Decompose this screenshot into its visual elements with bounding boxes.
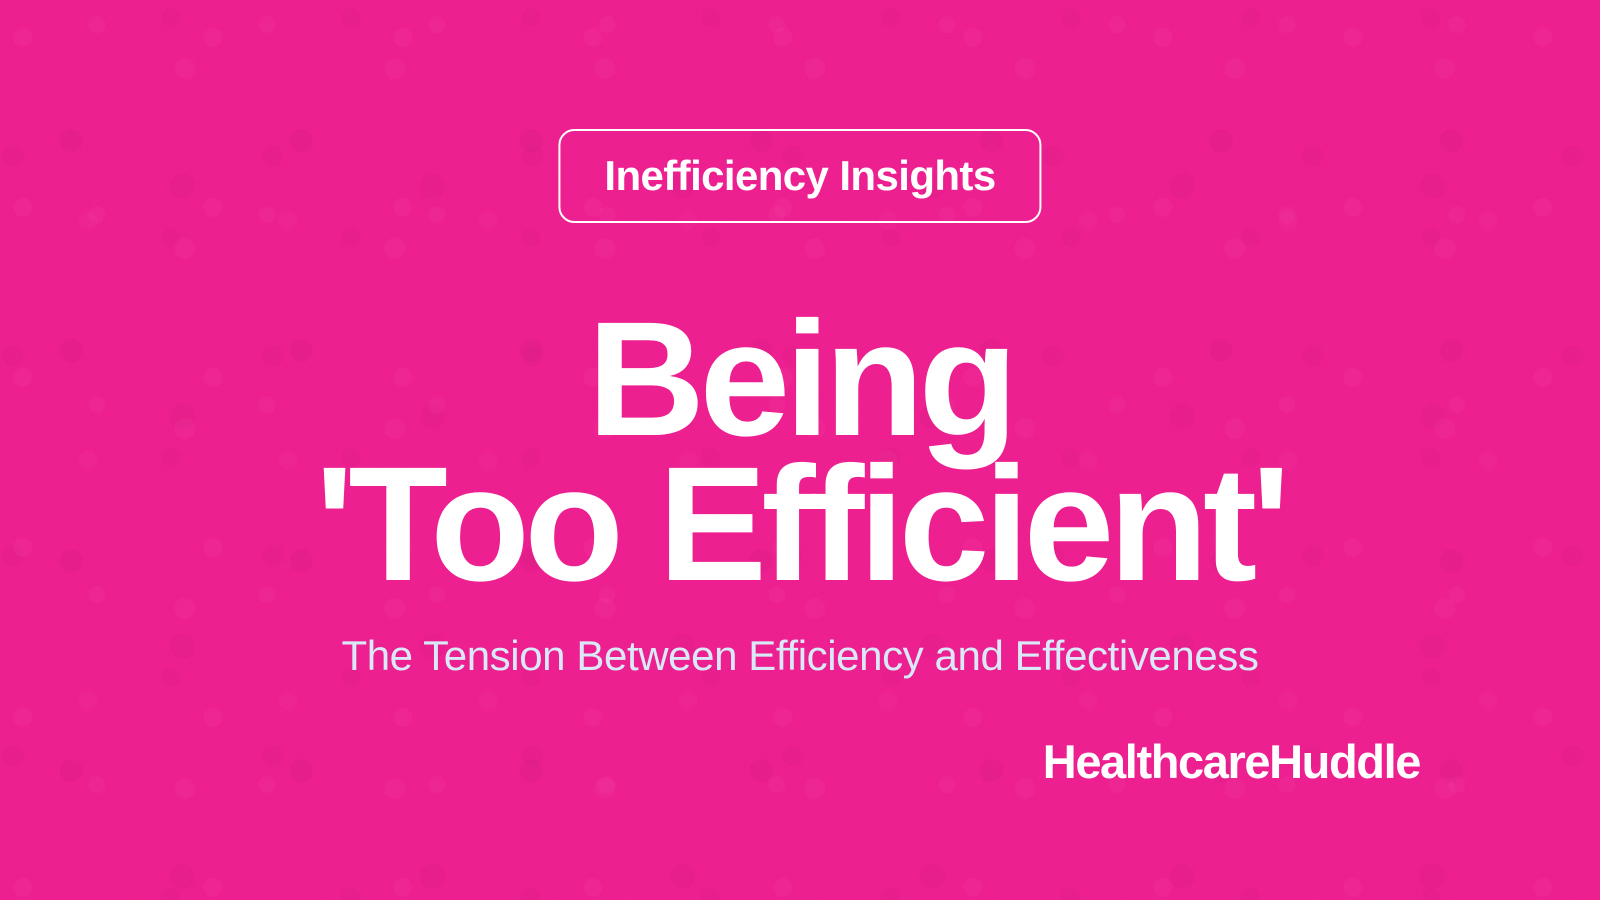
brand-wordmark: HealthcareHuddle	[1043, 736, 1420, 788]
category-badge: Inefficiency Insights	[558, 129, 1041, 223]
category-badge-label: Inefficiency Insights	[604, 155, 995, 197]
slide-canvas: Inefficiency Insights Being 'Too Efficie…	[0, 0, 1600, 900]
page-subtitle: The Tension Between Efficiency and Effec…	[0, 631, 1600, 681]
slide-content: Inefficiency Insights Being 'Too Efficie…	[0, 0, 1600, 900]
page-title: Being 'Too Efficient'	[0, 306, 1600, 596]
